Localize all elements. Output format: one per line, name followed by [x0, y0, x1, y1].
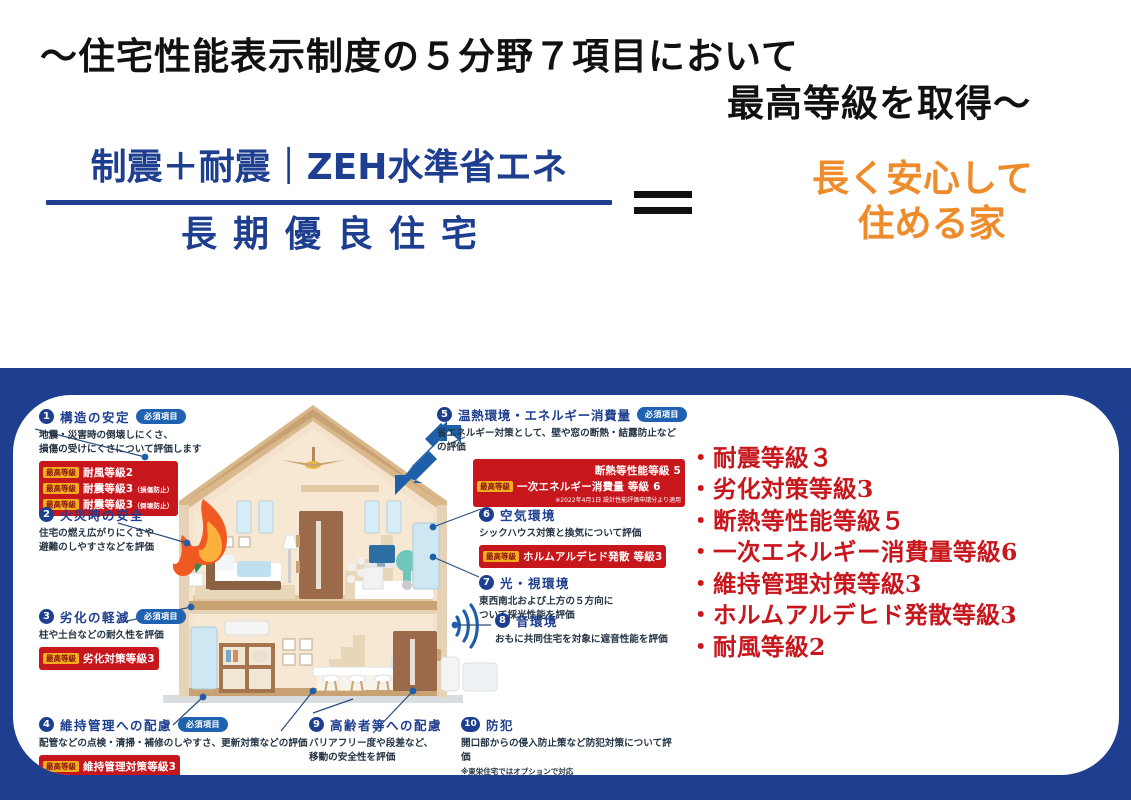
- callout-1-number: 1: [39, 409, 54, 424]
- white-card: 1 構造の安定 必須項目 地震・災害時の倒壊しにくさ、 損傷の受けにくさについて…: [13, 395, 1119, 775]
- page-headline: 〜住宅性能表示制度の５分野７項目において 最高等級を取得〜: [0, 0, 1131, 128]
- callout-3-header: 3 劣化の軽減 必須項目: [39, 607, 249, 626]
- grade-label: 劣化対策等級3: [83, 651, 155, 666]
- navy-panel: 1 構造の安定 必須項目 地震・災害時の倒壊しにくさ、 損傷の受けにくさについて…: [0, 368, 1131, 800]
- callout-3-deterioration-reduction: 3 劣化の軽減 必須項目 柱や土台などの耐久性を評価 最高等級 劣化対策等級3: [39, 607, 249, 670]
- callout-1-description: 地震・災害時の倒壊しにくさ、 損傷の受けにくさについて評価します: [39, 429, 249, 457]
- callout-6-grade-box: 最高等級 ホルムアルデヒド発散 等級3: [479, 545, 666, 568]
- callout-9-number: 9: [309, 717, 324, 732]
- grade-tag: 最高等級: [43, 483, 79, 494]
- grade-row: 最高等級 維持管理対策等級3: [43, 759, 176, 774]
- grade-tag: 最高等級: [43, 467, 79, 478]
- callout-8-sound-environment: 8 音環境 おもに共同住宅を対象に遮音性能を評価: [495, 611, 685, 647]
- callout-7-title: 光・視環境: [500, 573, 570, 592]
- callout-9-description: バリアフリー度や段差など、 移動の安全性を評価: [309, 737, 459, 765]
- grade-tag: 最高等級: [477, 481, 513, 492]
- grade-tag: 最高等級: [43, 653, 79, 664]
- callout-10-number: 10: [461, 717, 480, 732]
- fraction-denominator: 長期優良住宅: [46, 211, 612, 260]
- callout-2-number: 2: [39, 507, 54, 522]
- grade-row: 最高等級 ホルムアルデヒド発散 等級3: [483, 549, 662, 564]
- callout-5-grade-box: 断熱等性能等級 5 最高等級 一次エネルギー消費量 等級 6 ※2022年4月1…: [473, 459, 685, 507]
- callout-7-number: 7: [479, 575, 494, 590]
- callout-5-header: 5 温熱環境・エネルギー消費量 必須項目: [437, 405, 685, 424]
- callout-8-number: 8: [495, 613, 510, 628]
- callout-9-header: 9 高齢者等への配慮: [309, 715, 459, 734]
- equation-result: 長く安心して 住める家: [714, 156, 1131, 246]
- grade-summary-list: ・耐震等級３ ・劣化対策等級3 ・断熱等性能等級５ ・一次エネルギー消費量等級6…: [689, 443, 1109, 663]
- grade-label: 維持管理対策等級3: [83, 759, 176, 774]
- callout-5-thermal-energy: 5 温熱環境・エネルギー消費量 必須項目 省エネルギー対策として、壁や窓の断熱・…: [437, 405, 685, 507]
- grade-label: 耐風等級2: [83, 465, 133, 480]
- grade-row: 断熱等性能等級 5: [477, 463, 681, 478]
- callout-5-required-badge: 必須項目: [637, 407, 687, 422]
- callout-3-description: 柱や土台などの耐久性を評価: [39, 629, 249, 643]
- callout-3-required-badge: 必須項目: [136, 609, 186, 624]
- callout-4-title: 維持管理への配慮: [60, 715, 172, 734]
- callout-8-description: おもに共同住宅を対象に遮音性能を評価: [495, 633, 685, 647]
- callout-6-description: シックハウス対策と換気について評価: [479, 527, 685, 541]
- grade-tag: 最高等級: [483, 551, 519, 562]
- callout-4-maintenance-consideration: 4 維持管理への配慮 必須項目 配管などの点検・清掃・補修のしやすさ、更新対策な…: [39, 715, 329, 775]
- callout-1-structural-stability: 1 構造の安定 必須項目 地震・災害時の倒壊しにくさ、 損傷の受けにくさについて…: [39, 407, 249, 516]
- callout-2-header: 2 火災時の安全: [39, 505, 239, 524]
- callout-5-grade-note: ※2022年4月1日 設計性能評価申請分より適用: [477, 495, 681, 504]
- callout-10-note: ※東栄住宅ではオプションで対応: [461, 766, 681, 775]
- callout-3-title: 劣化の軽減: [60, 607, 130, 626]
- grade-row: 最高等級 一次エネルギー消費量 等級 6: [477, 479, 681, 494]
- callout-10-crime-prevention: 10 防犯 開口部からの侵入防止策など防犯対策について評価 ※東栄住宅ではオプシ…: [461, 715, 681, 775]
- house-diagram: 1 構造の安定 必須項目 地震・災害時の倒壊しにくさ、 損傷の受けにくさについて…: [13, 395, 683, 775]
- callout-6-title: 空気環境: [500, 505, 556, 524]
- callout-8-title: 音環境: [516, 611, 558, 630]
- list-item: ・耐震等級３: [689, 443, 1109, 474]
- list-item: ・劣化対策等級3: [689, 474, 1109, 505]
- list-item: ・ホルムアルデヒド発散等級3: [689, 600, 1109, 631]
- equals-icon: [634, 191, 692, 214]
- callout-3-number: 3: [39, 609, 54, 624]
- equation-block: 制震＋耐震｜ZEH水準省エネ 長期優良住宅 長く安心して 住める家: [0, 128, 1131, 259]
- callout-1-title: 構造の安定: [60, 407, 130, 426]
- callout-2-description: 住宅の燃え広がりにくさや 避難のしやすさなどを評価: [39, 527, 239, 555]
- grade-tag: 最高等級: [43, 761, 79, 772]
- result-line-2: 住める家: [714, 201, 1131, 246]
- grade-row: 最高等級 耐風等級2: [43, 465, 174, 480]
- callout-5-number: 5: [437, 407, 452, 422]
- headline-line-1: 〜住宅性能表示制度の５分野７項目において: [40, 34, 1075, 80]
- grade-row: 最高等級 劣化対策等級3: [43, 651, 155, 666]
- callout-6-number: 6: [479, 507, 494, 522]
- callout-8-header: 8 音環境: [495, 611, 685, 630]
- list-item: ・維持管理対策等級3: [689, 569, 1109, 600]
- fraction: 制震＋耐震｜ZEH水準省エネ 長期優良住宅: [46, 144, 612, 259]
- callout-4-description: 配管などの点検・清掃・補修のしやすさ、更新対策などの評価: [39, 737, 329, 751]
- callout-1-header: 1 構造の安定 必須項目: [39, 407, 249, 426]
- callout-4-number: 4: [39, 717, 54, 732]
- callout-4-required-badge: 必須項目: [178, 717, 228, 732]
- list-item: ・耐風等級2: [689, 632, 1109, 663]
- callout-3-grade-box: 最高等級 劣化対策等級3: [39, 647, 159, 670]
- callout-10-description: 開口部からの侵入防止策など防犯対策について評価: [461, 737, 681, 765]
- fraction-bar: [46, 200, 612, 205]
- grade-row: 最高等級 耐震等級3（損傷防止）: [43, 481, 174, 496]
- callout-9-title: 高齢者等への配慮: [330, 715, 442, 734]
- callout-10-title: 防犯: [486, 715, 514, 734]
- sound-wave-icon: [457, 605, 477, 647]
- fraction-numerator: 制震＋耐震｜ZEH水準省エネ: [46, 144, 612, 193]
- callout-6-header: 6 空気環境: [479, 505, 685, 524]
- callout-9-elderly-consideration: 9 高齢者等への配慮 バリアフリー度や段差など、 移動の安全性を評価: [309, 715, 459, 765]
- callout-6-air-environment: 6 空気環境 シックハウス対策と換気について評価 最高等級 ホルムアルデヒド発散…: [479, 505, 685, 568]
- grade-label: ホルムアルデヒド発散 等級3: [523, 549, 662, 564]
- callout-4-grade-box: 最高等級 維持管理対策等級3: [39, 755, 180, 775]
- callout-5-title: 温熱環境・エネルギー消費量: [458, 405, 631, 424]
- callout-4-header: 4 維持管理への配慮 必須項目: [39, 715, 329, 734]
- callout-7-header: 7 光・視環境: [479, 573, 679, 592]
- grade-label: 断熱等性能等級 5: [595, 463, 681, 478]
- callout-10-header: 10 防犯: [461, 715, 681, 734]
- callout-1-required-badge: 必須項目: [136, 409, 186, 424]
- result-line-1: 長く安心して: [714, 156, 1131, 201]
- callout-2-title: 火災時の安全: [60, 505, 144, 524]
- grade-label: 耐震等級3（損傷防止）: [83, 481, 174, 496]
- grade-label: 一次エネルギー消費量 等級 6: [517, 479, 661, 494]
- headline-line-2: 最高等級を取得〜: [40, 80, 1075, 128]
- callout-2-fire-safety: 2 火災時の安全 住宅の燃え広がりにくさや 避難のしやすさなどを評価: [39, 505, 239, 555]
- callout-5-description: 省エネルギー対策として、壁や窓の断熱・結露防止などの評価: [437, 427, 685, 455]
- list-item: ・一次エネルギー消費量等級6: [689, 537, 1109, 568]
- list-item: ・断熱等性能等級５: [689, 506, 1109, 537]
